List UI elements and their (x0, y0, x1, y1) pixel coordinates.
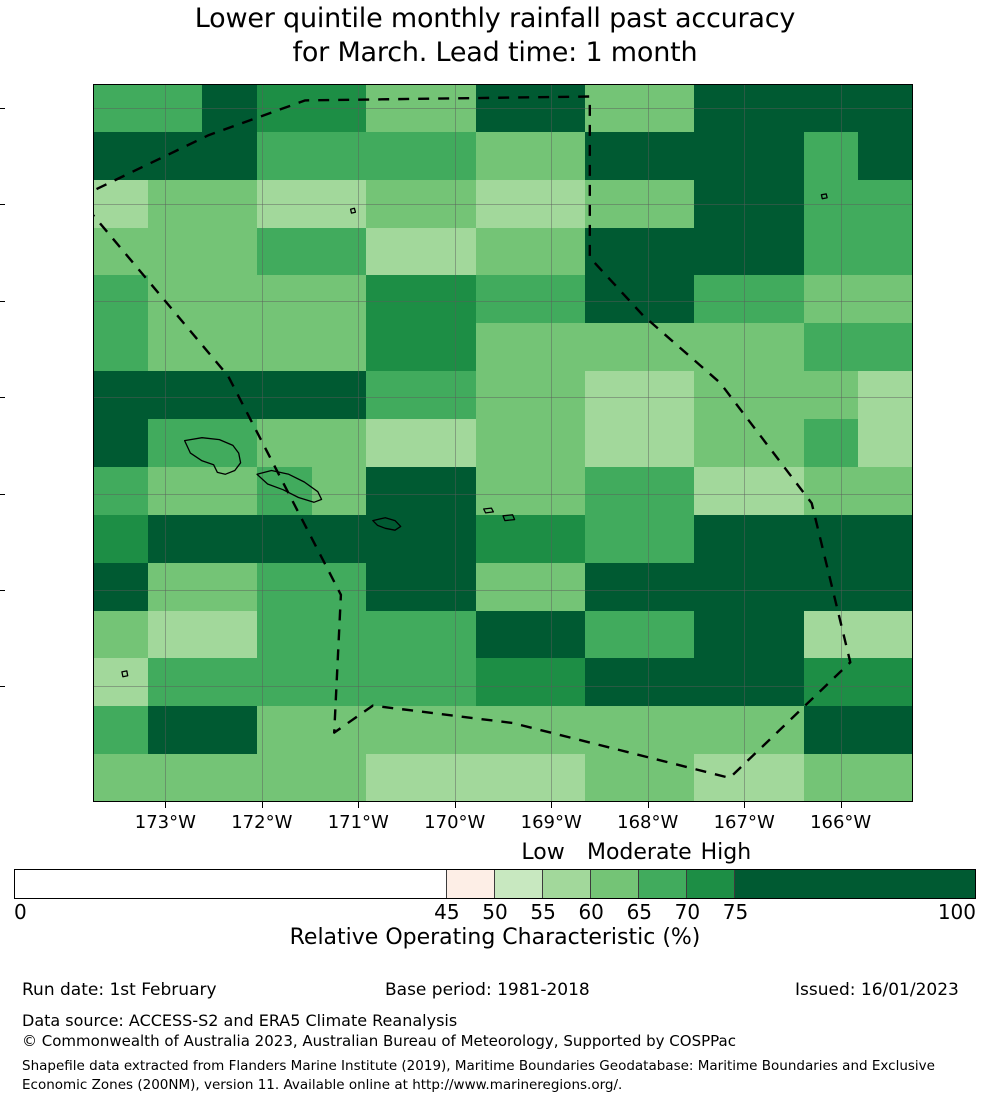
heatmap-cell (148, 419, 203, 467)
heatmap-cell (93, 228, 148, 276)
longitude-tick-mark (648, 802, 649, 808)
heatmap-cell (257, 323, 312, 371)
heatmap-cell (202, 754, 257, 802)
heatmap-cell (312, 611, 367, 659)
heatmap-cell (312, 371, 367, 419)
heatmap-cell (749, 371, 804, 419)
heatmap-cell (148, 611, 203, 659)
heatmap-cell (530, 275, 585, 323)
footer-issued-date: Issued: 16/01/2023 (795, 980, 959, 1000)
heatmap-cell (366, 228, 421, 276)
heatmap-cell (93, 323, 148, 371)
heatmap-cell (202, 84, 257, 132)
heatmap-cell (93, 371, 148, 419)
heatmap-cell (530, 706, 585, 754)
colorbar-segment (639, 870, 687, 898)
longitude-tick-mark (262, 802, 263, 808)
heatmap-cell (530, 228, 585, 276)
heatmap-cell (476, 706, 531, 754)
heatmap-cell (257, 515, 312, 563)
heatmap-cell (749, 84, 804, 132)
longitude-tick-mark (165, 802, 166, 808)
heatmap-cell (804, 371, 859, 419)
heatmap-cell (421, 371, 476, 419)
heatmap-cell (858, 563, 913, 611)
heatmap-cell (858, 132, 913, 180)
page-title: Lower quintile monthly rainfall past acc… (0, 2, 990, 70)
heatmap-cell (93, 275, 148, 323)
colorbar-tick-label: 60 (578, 900, 603, 924)
heatmap-cell (93, 84, 148, 132)
longitude-tick-mark (841, 802, 842, 808)
heatmap-cell (530, 371, 585, 419)
heatmap-cell (312, 706, 367, 754)
heatmap-cell (312, 84, 367, 132)
heatmap-cell (421, 180, 476, 228)
heatmap-cell (476, 323, 531, 371)
heatmap-cell (202, 611, 257, 659)
heatmap-cell (421, 419, 476, 467)
heatmap-cell (202, 563, 257, 611)
heatmap-cell (366, 323, 421, 371)
heatmap-cell (858, 515, 913, 563)
heatmap-cell (202, 658, 257, 706)
heatmap-cell (694, 419, 749, 467)
heatmap-cells (93, 84, 913, 802)
heatmap-cell (804, 658, 859, 706)
footer-copyright: © Commonwealth of Australia 2023, Austra… (22, 1032, 736, 1050)
heatmap-cell (694, 371, 749, 419)
colorbar-category-high: High (701, 840, 752, 865)
heatmap-cell (585, 515, 640, 563)
heatmap-cell (858, 228, 913, 276)
heatmap-cell (640, 84, 695, 132)
heatmap-cell (804, 84, 859, 132)
heatmap-cell (585, 419, 640, 467)
heatmap-cell (530, 467, 585, 515)
heatmap-cell (749, 180, 804, 228)
heatmap-cell (202, 228, 257, 276)
heatmap-cell (312, 467, 367, 515)
heatmap-cell (366, 467, 421, 515)
longitude-tick-label: 169°W (521, 812, 582, 833)
heatmap-cell (749, 706, 804, 754)
heatmap-cell (749, 563, 804, 611)
heatmap-cell (312, 228, 367, 276)
colorbar-category-labels: LowModerateHigh (0, 840, 990, 870)
heatmap-cell (694, 611, 749, 659)
heatmap-cell (312, 419, 367, 467)
longitude-tick-label: 166°W (810, 812, 871, 833)
heatmap-cell (804, 706, 859, 754)
heatmap-cell (366, 706, 421, 754)
heatmap-cell (148, 132, 203, 180)
colorbar-tick-label: 50 (482, 900, 507, 924)
heatmap-cell (476, 754, 531, 802)
colorbar-segment (495, 870, 543, 898)
heatmap-cell (694, 658, 749, 706)
heatmap-cell (93, 180, 148, 228)
heatmap-cell (858, 371, 913, 419)
heatmap-cell (585, 180, 640, 228)
heatmap-cell (694, 132, 749, 180)
longitude-tick-mark (358, 802, 359, 808)
colorbar-segment (543, 870, 591, 898)
longitude-tick-label: 172°W (231, 812, 292, 833)
heatmap-cell (366, 515, 421, 563)
heatmap-cell (421, 754, 476, 802)
heatmap-cell (148, 180, 203, 228)
longitude-tick-label: 171°W (328, 812, 389, 833)
heatmap-cell (640, 275, 695, 323)
heatmap-cell (530, 419, 585, 467)
heatmap-cell (640, 611, 695, 659)
heatmap-cell (148, 467, 203, 515)
heatmap-cell (148, 706, 203, 754)
colorbar-category-low: Low (521, 840, 564, 865)
heatmap-cell (93, 563, 148, 611)
heatmap-cell (476, 132, 531, 180)
heatmap-cell (640, 754, 695, 802)
heatmap-cell (366, 371, 421, 419)
longitude-tick-mark (455, 802, 456, 808)
longitude-tick-mark (744, 802, 745, 808)
heatmap-cell (749, 275, 804, 323)
heatmap-cell (530, 563, 585, 611)
heatmap-cell (257, 467, 312, 515)
heatmap-cell (858, 275, 913, 323)
heatmap-cell (257, 563, 312, 611)
heatmap-cell (476, 371, 531, 419)
colorbar-tick-label: 0 (14, 900, 27, 924)
colorbar-segment (447, 870, 495, 898)
latitude-tick-mark (0, 204, 5, 205)
heatmap-cell (749, 754, 804, 802)
heatmap-cell (530, 658, 585, 706)
heatmap-cell (858, 658, 913, 706)
heatmap-cell (421, 563, 476, 611)
heatmap-cell (804, 323, 859, 371)
heatmap-cell (476, 180, 531, 228)
longitude-tick-label: 173°W (135, 812, 196, 833)
heatmap-cell (749, 467, 804, 515)
heatmap-cell (421, 132, 476, 180)
colorbar-segment (735, 870, 975, 898)
heatmap-cell (421, 323, 476, 371)
heatmap-cell (257, 371, 312, 419)
heatmap-cell (804, 275, 859, 323)
heatmap-cell (476, 228, 531, 276)
heatmap-cell (93, 515, 148, 563)
heatmap-cell (749, 419, 804, 467)
heatmap-cell (530, 180, 585, 228)
heatmap-cell (202, 323, 257, 371)
heatmap-cell (585, 323, 640, 371)
heatmap-cell (858, 180, 913, 228)
colorbar-tick-labels: 045505560657075100 (0, 900, 990, 926)
heatmap-cell (804, 132, 859, 180)
longitude-tick-mark (551, 802, 552, 808)
heatmap-cell (148, 371, 203, 419)
heatmap-cell (476, 419, 531, 467)
heatmap-cell (257, 706, 312, 754)
heatmap-cell (694, 754, 749, 802)
heatmap-cell (476, 515, 531, 563)
latitude-tick-mark (0, 108, 5, 109)
footer-data-source: Data source: ACCESS-S2 and ERA5 Climate … (22, 1011, 457, 1030)
heatmap-cell (694, 467, 749, 515)
heatmap-cell (202, 275, 257, 323)
heatmap-cell (366, 419, 421, 467)
latitude-tick-mark (0, 686, 5, 687)
heatmap-cell (476, 275, 531, 323)
colorbar-tick-label: 100 (938, 900, 976, 924)
heatmap-cell (804, 754, 859, 802)
heatmap-cell (257, 228, 312, 276)
footer-shapefile-note: Shapefile data extracted from Flanders M… (22, 1057, 972, 1095)
heatmap-cell (312, 563, 367, 611)
heatmap-cell (366, 611, 421, 659)
heatmap-cell (694, 563, 749, 611)
heatmap-cell (694, 706, 749, 754)
heatmap-cell (93, 132, 148, 180)
latitude-tick-mark (0, 494, 5, 495)
heatmap-cell (202, 180, 257, 228)
heatmap-cell (257, 611, 312, 659)
heatmap-cell (202, 515, 257, 563)
heatmap-cell (257, 419, 312, 467)
heatmap-cell (148, 323, 203, 371)
footer: Run date: 1st February Base period: 1981… (0, 980, 990, 1002)
heatmap-cell (476, 611, 531, 659)
heatmap-cell (202, 132, 257, 180)
heatmap-cell (421, 84, 476, 132)
heatmap-cell (640, 132, 695, 180)
heatmap-cell (585, 371, 640, 419)
heatmap-cell (530, 323, 585, 371)
heatmap-cell (366, 180, 421, 228)
heatmap-cell (366, 132, 421, 180)
colorbar-category-moderate: Moderate (587, 840, 692, 865)
heatmap-cell (93, 706, 148, 754)
heatmap-cell (804, 563, 859, 611)
longitude-tick-label: 168°W (617, 812, 678, 833)
heatmap-cell (585, 84, 640, 132)
title-line-1: Lower quintile monthly rainfall past acc… (0, 2, 990, 36)
heatmap-cell (530, 611, 585, 659)
heatmap-cell (421, 275, 476, 323)
map-plot-area (93, 84, 913, 802)
heatmap-cell (148, 563, 203, 611)
heatmap-cell (148, 515, 203, 563)
heatmap-cell (257, 84, 312, 132)
heatmap-cell (858, 467, 913, 515)
heatmap-cell (257, 754, 312, 802)
heatmap-cell (202, 419, 257, 467)
heatmap-cell (421, 611, 476, 659)
heatmap-cell (694, 84, 749, 132)
latitude-tick-mark (0, 301, 5, 302)
heatmap-cell (804, 419, 859, 467)
heatmap-cell (148, 658, 203, 706)
heatmap-cell (585, 611, 640, 659)
longitude-tick-label: 170°W (424, 812, 485, 833)
heatmap-cell (148, 754, 203, 802)
heatmap-cell (804, 515, 859, 563)
heatmap-cell (366, 754, 421, 802)
heatmap-cell (640, 419, 695, 467)
heatmap-cell (749, 132, 804, 180)
heatmap-cell (148, 84, 203, 132)
heatmap-cell (202, 371, 257, 419)
heatmap-cell (421, 706, 476, 754)
colorbar-tick-label: 75 (723, 900, 748, 924)
heatmap-cell (530, 515, 585, 563)
heatmap-cell (93, 467, 148, 515)
heatmap-cell (312, 180, 367, 228)
heatmap-cell (366, 275, 421, 323)
heatmap-cell (858, 419, 913, 467)
heatmap-cell (476, 658, 531, 706)
heatmap-cell (804, 467, 859, 515)
heatmap-cell (257, 180, 312, 228)
heatmap-cell (421, 515, 476, 563)
colorbar-axis-label: Relative Operating Characteristic (%) (0, 925, 990, 950)
heatmap-cell (366, 658, 421, 706)
heatmap-cell (694, 323, 749, 371)
heatmap-cell (804, 611, 859, 659)
heatmap-cell (640, 658, 695, 706)
heatmap-cell (366, 563, 421, 611)
heatmap-cell (804, 180, 859, 228)
heatmap-cell (366, 84, 421, 132)
heatmap-cell (694, 228, 749, 276)
heatmap-cell (257, 132, 312, 180)
heatmap-cell (476, 563, 531, 611)
latitude-tick-mark (0, 397, 5, 398)
heatmap-cell (257, 275, 312, 323)
heatmap-cell (421, 228, 476, 276)
heatmap-cell (202, 706, 257, 754)
heatmap-cell (421, 658, 476, 706)
heatmap-cell (640, 563, 695, 611)
heatmap-cell (257, 658, 312, 706)
heatmap-cell (585, 275, 640, 323)
heatmap-cell (640, 228, 695, 276)
colorbar-tick-label: 45 (434, 900, 459, 924)
heatmap-cell (749, 323, 804, 371)
longitude-tick-label: 167°W (714, 812, 775, 833)
heatmap-cell (585, 132, 640, 180)
heatmap-cell (858, 323, 913, 371)
heatmap-cell (694, 275, 749, 323)
heatmap-cell (749, 228, 804, 276)
heatmap-cell (530, 84, 585, 132)
heatmap-cell (530, 132, 585, 180)
title-line-2: for March. Lead time: 1 month (0, 36, 990, 70)
colorbar (14, 869, 976, 899)
heatmap-cell (749, 658, 804, 706)
heatmap-cell (202, 467, 257, 515)
latitude-tick-mark (0, 590, 5, 591)
heatmap-cell (640, 467, 695, 515)
heatmap-cell (585, 754, 640, 802)
heatmap-cell (93, 419, 148, 467)
colorbar-tick-label: 65 (627, 900, 652, 924)
heatmap-cell (858, 84, 913, 132)
heatmap-cell (585, 228, 640, 276)
heatmap-cell (640, 180, 695, 228)
colorbar-segment (15, 870, 447, 898)
heatmap-cell (530, 754, 585, 802)
heatmap-cell (858, 611, 913, 659)
heatmap-cell (312, 754, 367, 802)
footer-run-date: Run date: 1st February (22, 980, 217, 1000)
heatmap-cell (421, 467, 476, 515)
heatmap-cell (585, 467, 640, 515)
heatmap-cell (640, 706, 695, 754)
heatmap-cell (694, 180, 749, 228)
heatmap-cell (312, 658, 367, 706)
footer-base-period: Base period: 1981-2018 (385, 980, 590, 1000)
colorbar-tick-label: 70 (675, 900, 700, 924)
colorbar-segment (687, 870, 735, 898)
heatmap-cell (640, 323, 695, 371)
heatmap-cell (585, 658, 640, 706)
colorbar-segment (591, 870, 639, 898)
heatmap-cell (312, 323, 367, 371)
heatmap-cell (858, 754, 913, 802)
heatmap-cell (93, 658, 148, 706)
heatmap-cell (476, 84, 531, 132)
heatmap-cell (476, 467, 531, 515)
heatmap-cell (804, 228, 859, 276)
heatmap-cell (694, 515, 749, 563)
heatmap-cell (93, 611, 148, 659)
heatmap-cell (312, 515, 367, 563)
heatmap-cell (858, 706, 913, 754)
heatmap-cell (585, 706, 640, 754)
heatmap-cell (312, 275, 367, 323)
heatmap-cell (312, 132, 367, 180)
heatmap-cell (585, 563, 640, 611)
heatmap-cell (148, 228, 203, 276)
heatmap-cell (640, 515, 695, 563)
heatmap-cell (749, 611, 804, 659)
heatmap-cell (749, 515, 804, 563)
heatmap-cell (93, 754, 148, 802)
heatmap-cell (640, 371, 695, 419)
heatmap-cell (148, 275, 203, 323)
colorbar-tick-label: 55 (530, 900, 555, 924)
